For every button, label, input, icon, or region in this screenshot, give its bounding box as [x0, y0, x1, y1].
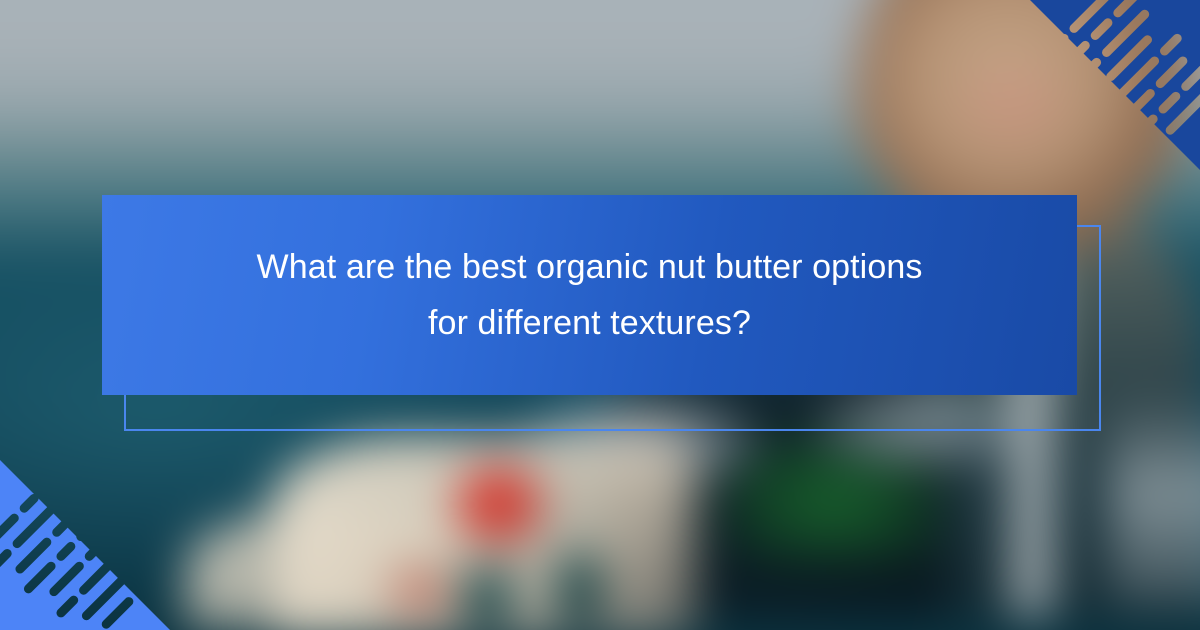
diagonal-dash-corner-icon-top-right: [1030, 0, 1200, 170]
bg-railing-rail: [1109, 395, 1200, 607]
bg-red-object: [457, 467, 542, 543]
bg-teal-object-a: [462, 564, 511, 628]
share-card-canvas: What are the best organic nut butter opt…: [0, 0, 1200, 630]
headline-line-1: What are the best organic nut butter opt…: [142, 239, 1037, 295]
page-title: What are the best organic nut butter opt…: [102, 239, 1077, 352]
diagonal-dash-corner-icon-bottom-left: [0, 460, 170, 630]
bg-teal-object-b: [558, 551, 600, 625]
headline-banner: What are the best organic nut butter opt…: [102, 195, 1077, 395]
bg-red-object-2: [388, 564, 452, 617]
headline-line-2: for different textures?: [142, 295, 1037, 351]
